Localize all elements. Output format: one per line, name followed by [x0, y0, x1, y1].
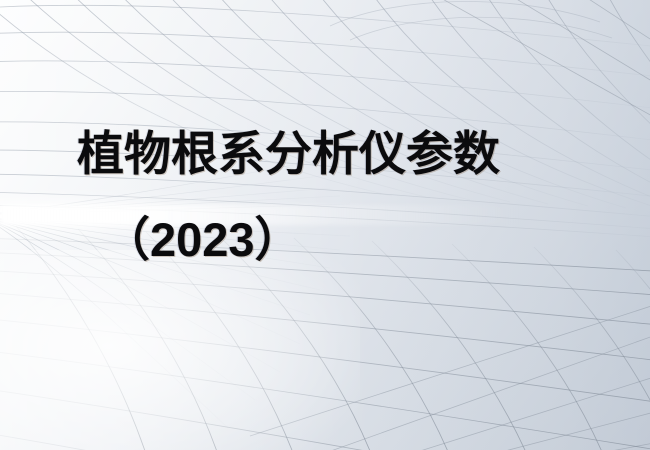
- banner-text-layer: 植物根系分析仪参数 （2023）: [0, 0, 650, 450]
- title-banner: 植物根系分析仪参数 （2023）: [0, 0, 650, 450]
- banner-title-line-2: （2023）: [103, 212, 302, 268]
- banner-title-line-1: 植物根系分析仪参数: [77, 126, 500, 182]
